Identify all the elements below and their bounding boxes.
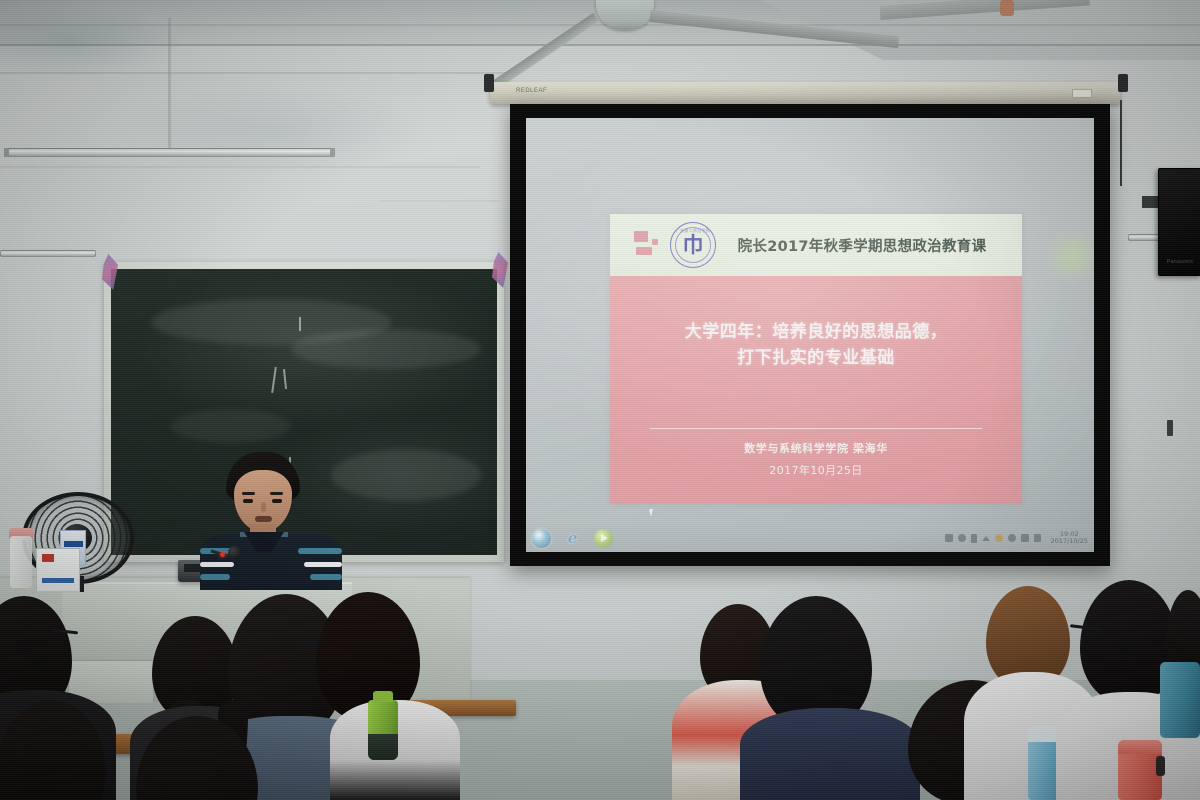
teal-water-bottle [1160,662,1200,738]
presenter-nose [261,502,266,512]
ceiling-fixture-icon [1000,0,1014,16]
mouse-cursor-icon [649,509,655,517]
taskbar-system-tray: 19:02 2017/10/25 [945,531,1088,545]
light-bracket [4,148,9,157]
fluorescent-light-tube [0,250,96,257]
green-water-bottle [368,700,398,760]
roller-spec-label [1072,89,1092,98]
clock-date: 2017/10/25 [1051,538,1088,545]
water-bottle [10,536,32,588]
presentation-slide: 广东第二师范学院 巾 院长2017年秋季学期思想政治教育课 大学四年：培养良好的… [610,214,1022,504]
roller-brand-label: REDLEAF [516,88,547,94]
volume-icon[interactable] [1034,534,1041,542]
chalk-mark [283,369,287,389]
wall-seam-horizontal [0,24,1200,26]
projection-surface: 广东第二师范学院 巾 院长2017年秋季学期思想政治教育课 大学四年：培养良好的… [526,118,1094,552]
university-seal-icon: 广东第二师范学院 巾 [670,222,716,268]
presenter-eyebrow [242,492,255,495]
display-icon[interactable] [1021,534,1029,542]
chalk-smudge [171,409,291,443]
slide-header-title: 院长2017年秋季学期思想政治教育课 [716,235,1022,256]
seal-glyph: 巾 [683,235,704,256]
presenter-eye [243,499,253,503]
internet-explorer-icon[interactable]: e [563,529,582,548]
pink-water-bottle [1118,740,1162,800]
ceiling-seam [0,44,1200,46]
media-player-icon[interactable] [594,529,613,548]
lecture-hall-scene: Panasonic REDLEAF [0,0,1200,800]
wall-seam-horizontal [380,200,500,202]
chalk-smudge [291,329,481,369]
slide-header: 广东第二师范学院 巾 院长2017年秋季学期思想政治教育课 [610,214,1022,276]
seal-arc-text: 广东第二师范学院 [671,228,715,234]
roller-endcap [1118,74,1128,92]
slide-title-line-1: 大学四年：培养良好的思想品德， [610,320,1022,346]
show-hidden-icons-icon[interactable] [982,536,990,541]
projector-screen-roller: REDLEAF [490,82,1120,104]
presenter-at-podium [196,452,346,582]
slide-body: 大学四年：培养良好的思想品德， 打下扎实的专业基础 数学与系统科学学院 梁海华 … [610,276,1022,504]
slide-title-line-2: 打下扎实的专业基础 [610,346,1022,372]
presenter-face [234,470,292,532]
list-item [0,700,106,800]
screen-glare [1044,228,1094,284]
roller-endcap [484,74,494,92]
network-icon[interactable] [958,534,966,542]
decorative-squares-icon [634,231,666,259]
slide-divider [650,428,982,429]
windows-orb-icon[interactable] [532,529,551,548]
chalk-smudge [331,449,481,501]
bluetooth-icon[interactable] [971,534,977,543]
list-item [136,716,258,800]
light-bracket [330,148,335,157]
presenter-eyebrow [270,492,283,495]
presenter-mouth [255,516,272,522]
action-center-icon[interactable] [1008,534,1016,542]
chalk-mark [271,367,277,393]
taskbar-clock[interactable]: 19:02 2017/10/25 [1051,531,1088,545]
microphone-led-icon [220,552,225,557]
speaker-brand-label: Panasonic [1167,259,1194,265]
slide-author: 数学与系统科学学院 梁海华 [610,440,1022,456]
fluorescent-light-tube [8,148,332,157]
roller-power-cable [1120,100,1122,186]
list-item [740,708,920,800]
taskbar-quick-launch: e [532,529,613,548]
podium-microphone [228,546,241,559]
wall-speaker: Panasonic [1158,168,1200,276]
tissue-box [36,548,80,592]
presenter-eye [272,499,282,503]
wall-stain [120,86,420,176]
wall-hook [1167,420,1173,436]
windows-taskbar[interactable]: e 19:02 2017/10/25 [526,524,1094,552]
projection-screen: 广东第二师范学院 巾 院长2017年秋季学期思想政治教育课 大学四年：培养良好的… [510,104,1110,566]
monitor-icon[interactable] [945,534,953,542]
slide-date: 2017年10月25日 [610,462,1022,478]
battery-icon[interactable] [995,534,1003,542]
chalk-mark [299,317,301,331]
